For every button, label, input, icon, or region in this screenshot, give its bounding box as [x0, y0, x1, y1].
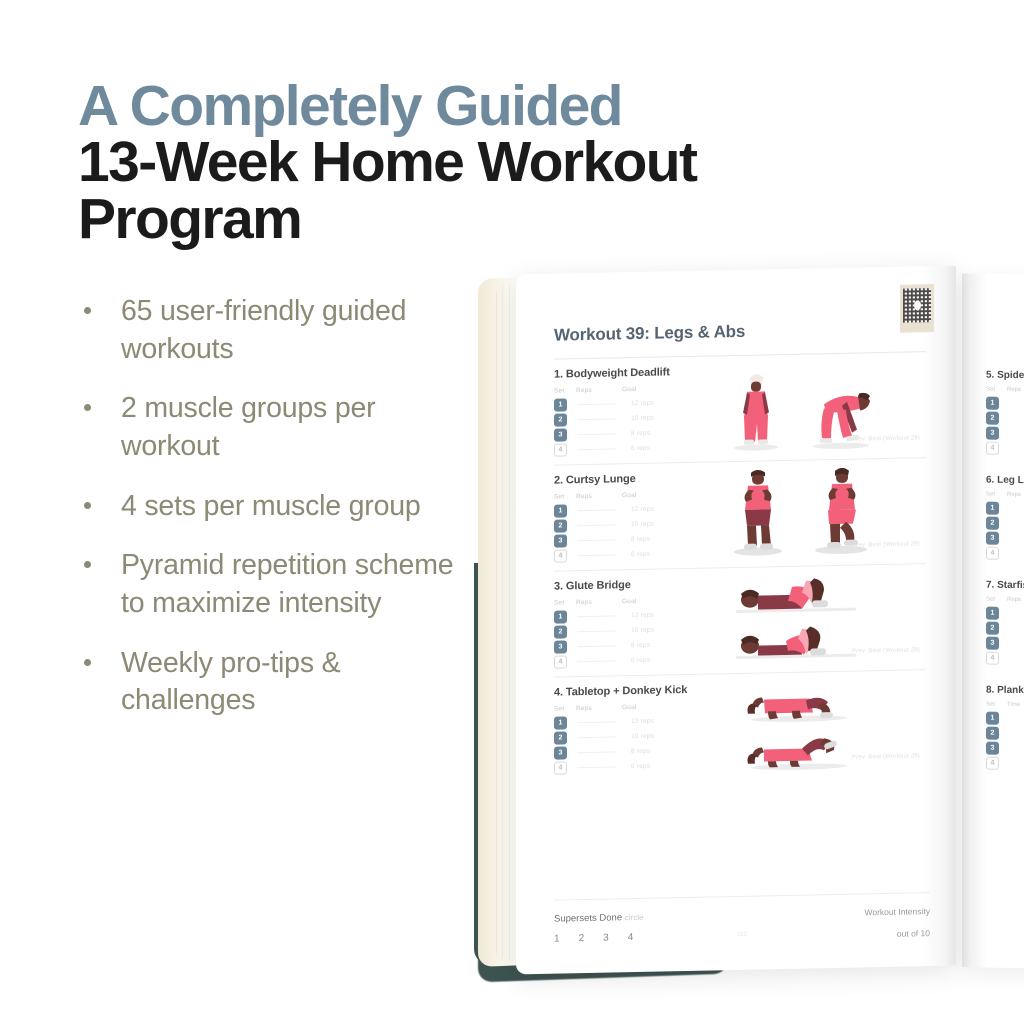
list-item-label: Pyramid repetition scheme to maximize in… [121, 549, 453, 619]
headline-line-2: 13-Week Home Workout [78, 134, 798, 190]
set-row: 2 [986, 411, 1024, 427]
goal-value: 10 reps [631, 733, 654, 740]
list-item: Weekly pro-tips & challenges [78, 645, 478, 720]
set-badge[interactable]: 1 [986, 712, 999, 725]
reps-write-line[interactable] [577, 509, 617, 511]
intensity-scale: out of 10 [864, 928, 930, 939]
list-item-label: 65 user-friendly guided workouts [121, 295, 406, 365]
col-header-set: Set [554, 387, 576, 394]
set-badge[interactable]: 2 [554, 413, 567, 426]
list-item: Pyramid repetition scheme to maximize in… [78, 547, 478, 622]
right-exercise-block-6: 6. Leg Lift Set Reps 1 2 3 4 [986, 475, 1024, 562]
set-row: 1 [986, 711, 1024, 727]
set-badge[interactable]: 4 [554, 761, 567, 774]
col-header-goal: Goal [622, 491, 668, 499]
workout-intensity-group: Workout Intensity out of 10 [864, 906, 930, 939]
set-row: 2 [986, 726, 1024, 742]
set-badge[interactable]: 2 [986, 622, 999, 635]
right-exercise-block-7: 7. Starfish Set Reps 1 2 3 4 [986, 580, 1024, 667]
list-item: 4 sets per muscle group [78, 488, 478, 526]
set-row: 4 [986, 441, 1024, 457]
goal-value: 12 reps [631, 718, 654, 725]
set-badge[interactable]: 4 [986, 757, 999, 770]
list-item: 65 user-friendly guided workouts [78, 293, 478, 368]
list-item-label: Weekly pro-tips & challenges [121, 647, 340, 717]
right-exercise-block-5: 5. Spiderm Set Reps 1 2 3 4 [986, 370, 1024, 457]
set-badge[interactable]: 3 [554, 534, 567, 547]
exercise-name: 6. Leg Lift [986, 475, 1024, 487]
set-badge[interactable]: 2 [986, 727, 999, 740]
supersets-label: Supersets Done [554, 912, 622, 924]
bullet-dot-icon [84, 502, 91, 509]
intensity-label: Workout Intensity [864, 906, 930, 917]
reps-write-line[interactable] [577, 721, 617, 723]
set-badge[interactable]: 1 [986, 502, 999, 515]
goal-value: 12 reps [631, 400, 654, 407]
exercise-illustration-4 [706, 674, 936, 773]
col-header-goal: Goal [622, 385, 668, 393]
exercise-block-2: 2. Curtsy Lunge Set Reps Goal 112 reps 2… [554, 458, 926, 571]
exercise-block-3: 3. Glute Bridge Set Reps Goal 112 reps 2… [554, 564, 926, 677]
col-header-reps: Reps [1007, 387, 1021, 393]
supersets-done-group: Supersets Done circle 1 2 3 4 [554, 912, 643, 945]
set-badge[interactable]: 1 [554, 504, 567, 517]
col-header-set: Set [986, 387, 995, 393]
set-badge[interactable]: 4 [554, 655, 567, 668]
superset-option-1[interactable]: 1 [554, 934, 560, 945]
set-badge[interactable]: 4 [986, 442, 999, 455]
set-badge[interactable]: 2 [986, 517, 999, 530]
col-header-set: Set [554, 705, 576, 712]
set-badge[interactable]: 2 [554, 731, 567, 744]
col-header-set: Set [554, 493, 576, 500]
reps-write-line[interactable] [577, 524, 617, 526]
set-badge[interactable]: 1 [554, 610, 567, 623]
exercise-name: 7. Starfish [986, 580, 1024, 592]
reps-write-line[interactable] [577, 403, 617, 405]
set-badge[interactable]: 4 [554, 549, 567, 562]
goal-value: 10 reps [631, 415, 654, 422]
goal-value: 6 reps [631, 763, 650, 770]
set-row: 1 [986, 606, 1024, 622]
goal-value: 12 reps [631, 506, 654, 513]
marketing-copy: A Completely Guided 13-Week Home Workout… [78, 78, 508, 742]
right-exercise-block-8: 8. Plank Set Time 1 2 3 4 [986, 685, 1024, 772]
glute-bridge-figures-icon [706, 568, 936, 667]
curtsy-lunge-figures-icon [706, 462, 936, 561]
workout-book-photo: 5. Spiderm Set Reps 1 2 3 4 6. Leg Lift … [466, 262, 1024, 1002]
supersets-hint: circle [625, 913, 644, 922]
set-row: 4 [986, 546, 1024, 562]
feature-list: 65 user-friendly guided workouts 2 muscl… [78, 293, 478, 719]
reps-write-line[interactable] [577, 751, 617, 753]
set-row: 2 [986, 621, 1024, 637]
set-badge[interactable]: 3 [986, 427, 999, 440]
book-left-page: Workout 39: Legs & Abs 1. Bodyweight Dea… [516, 266, 956, 975]
set-badge[interactable]: 3 [986, 742, 999, 755]
col-header-goal: Goal [622, 597, 668, 605]
set-row: 3 [986, 531, 1024, 547]
bullet-dot-icon [84, 307, 91, 314]
goal-value: 6 reps [631, 551, 650, 558]
exercise-name: 5. Spiderm [986, 370, 1024, 382]
headline-line-1: A Completely Guided [78, 78, 798, 134]
reps-write-line[interactable] [577, 448, 617, 450]
set-badge[interactable]: 4 [986, 547, 999, 560]
goal-value: 8 reps [631, 748, 650, 755]
goal-value: 12 reps [631, 612, 654, 619]
set-badge[interactable]: 4 [986, 652, 999, 665]
set-badge[interactable]: 1 [554, 716, 567, 729]
col-header-goal: Goal [622, 703, 668, 711]
set-row: 3 [986, 426, 1024, 442]
page-number: 113 [737, 932, 747, 938]
col-header-time: Time [1007, 702, 1020, 708]
reps-write-line[interactable] [577, 554, 617, 556]
list-item-label: 4 sets per muscle group [121, 490, 421, 522]
reps-write-line[interactable] [577, 418, 617, 420]
exercise-block-1: 1. Bodyweight Deadlift Set Reps Goal 112… [554, 352, 926, 465]
book-right-page: 5. Spiderm Set Reps 1 2 3 4 6. Leg Lift … [962, 273, 1024, 969]
set-badge[interactable]: 4 [554, 443, 567, 456]
goal-value: 8 reps [631, 430, 650, 437]
list-item: 2 muscle groups per workout [78, 390, 478, 465]
col-header-set: Set [986, 702, 995, 708]
exercise-illustration-1 [706, 356, 936, 455]
set-badge[interactable]: 3 [554, 428, 567, 441]
bullet-dot-icon [84, 561, 91, 568]
set-badge[interactable]: 3 [986, 532, 999, 545]
superset-option-3[interactable]: 3 [603, 933, 609, 944]
set-badge[interactable]: 3 [986, 637, 999, 650]
headline-line-3: Program [78, 191, 798, 247]
col-header-set: Set [554, 599, 576, 606]
deadlift-figures-icon [706, 356, 936, 455]
col-header-reps: Reps [576, 704, 622, 712]
set-badge[interactable]: 1 [986, 397, 999, 410]
reps-write-line[interactable] [577, 736, 617, 738]
goal-value: 6 reps [631, 445, 650, 452]
reps-write-line[interactable] [577, 766, 617, 768]
list-item-label: 2 muscle groups per workout [121, 392, 375, 462]
col-header-reps: Reps [1007, 492, 1021, 498]
set-badge[interactable]: 2 [554, 625, 567, 638]
col-header-reps: Reps [576, 386, 622, 394]
exercise-illustration-3 [706, 568, 936, 667]
donkey-kick-figures-icon [706, 674, 936, 773]
set-badge[interactable]: 2 [986, 412, 999, 425]
page-footer: Supersets Done circle 1 2 3 4 Workout In… [554, 892, 930, 946]
bullet-dot-icon [84, 404, 91, 411]
reps-write-line[interactable] [577, 660, 617, 662]
reps-write-line[interactable] [577, 539, 617, 541]
set-row: 1 [986, 396, 1024, 412]
set-badge[interactable]: 2 [554, 519, 567, 532]
set-row: 2 [986, 516, 1024, 532]
reps-write-line[interactable] [577, 645, 617, 647]
set-row: 4 [986, 651, 1024, 667]
reps-write-line[interactable] [577, 630, 617, 632]
col-header-reps: Reps [576, 492, 622, 500]
set-badge[interactable]: 3 [554, 746, 567, 759]
set-badge[interactable]: 1 [554, 398, 567, 411]
set-row: 4 [986, 756, 1024, 772]
set-row: 3 [986, 741, 1024, 757]
set-row: 3 [986, 636, 1024, 652]
set-badge[interactable]: 3 [554, 640, 567, 653]
page-title: A Completely Guided 13-Week Home Workout… [78, 78, 798, 247]
reps-write-line[interactable] [577, 433, 617, 435]
set-row: 1 [986, 501, 1024, 517]
goal-value: 10 reps [631, 627, 654, 634]
exercise-illustration-2 [706, 462, 936, 561]
set-badge[interactable]: 1 [986, 607, 999, 620]
exercise-name: 8. Plank [986, 685, 1024, 697]
goal-value: 8 reps [631, 642, 650, 649]
goal-value: 6 reps [631, 657, 650, 664]
exercise-block-4: 4. Tabletop + Donkey Kick Set Reps Goal … [554, 670, 926, 782]
bullet-dot-icon [84, 659, 91, 666]
workout-title: Workout 39: Legs & Abs [554, 318, 926, 345]
col-header-set: Set [986, 597, 995, 603]
goal-value: 8 reps [631, 536, 650, 543]
goal-value: 10 reps [631, 521, 654, 528]
reps-write-line[interactable] [577, 615, 617, 617]
col-header-set: Set [986, 492, 995, 498]
col-header-reps: Reps [1007, 597, 1021, 603]
superset-option-2[interactable]: 2 [579, 933, 585, 944]
superset-option-4[interactable]: 4 [628, 932, 634, 943]
col-header-reps: Reps [576, 598, 622, 606]
